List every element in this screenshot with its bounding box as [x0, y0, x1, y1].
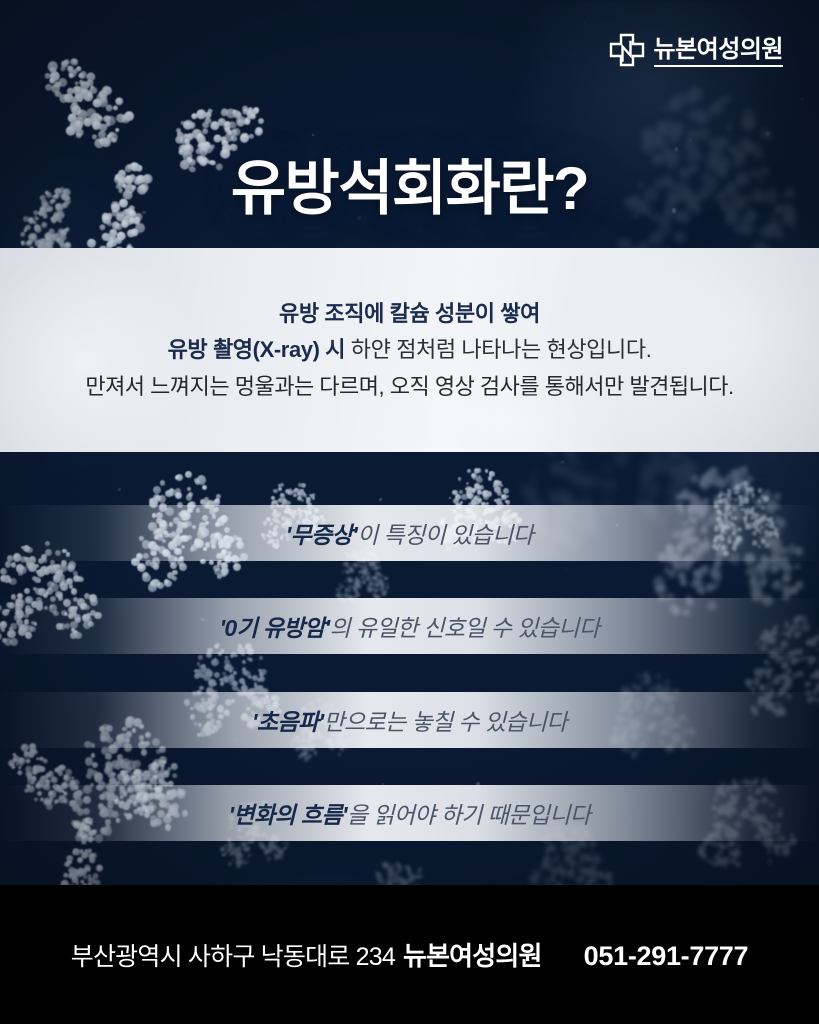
list-item-label: '변화의 흐름'을 읽어야 하기 때문입니다: [229, 796, 591, 830]
list-item-highlight: '변화의 흐름': [229, 802, 347, 828]
footer-bar: 부산광역시 사하구 낙동대로 234 뉴본여성의원 051-291-7777: [0, 885, 819, 1024]
description-line-3: 만져서 느껴지는 멍울과는 다르며, 오직 영상 검사를 통해서만 발견됩니다.: [85, 373, 733, 401]
page-title: 유방석회화란?: [0, 140, 819, 227]
footer-clinic-name: 뉴본여성의원: [403, 936, 542, 973]
description-line-2-bold: 유방 촬영(X-ray) 시: [168, 337, 346, 362]
footer-phone[interactable]: 051-291-7777: [584, 941, 749, 972]
footer-address: 부산광역시 사하구 낙동대로 234: [71, 937, 395, 973]
list-item-highlight: '무증상': [286, 522, 357, 548]
description-line-2: 유방 촬영(X-ray) 시 하얀 점처럼 나타나는 현상입니다.: [168, 336, 652, 364]
list-item-highlight: '초음파': [252, 709, 323, 735]
description-band: 유방 조직에 칼슘 성분이 쌓여 유방 촬영(X-ray) 시 하얀 점처럼 나…: [0, 248, 819, 452]
clinic-logo[interactable]: 뉴본여성의원: [609, 33, 783, 72]
list-item[interactable]: '초음파'만으로는 놓칠 수 있습니다: [0, 692, 819, 748]
description-line-1: 유방 조직에 칼슘 성분이 쌓여: [279, 300, 540, 328]
poster-root: 뉴본여성의원 유방석회화란? 유방 조직에 칼슘 성분이 쌓여 유방 촬영(X-…: [0, 0, 819, 1024]
list-item-label: '초음파'만으로는 놓칠 수 있습니다: [252, 703, 567, 737]
list-item-label: '무증상'이 특징이 있습니다: [286, 516, 533, 550]
medical-cross-n-icon: [609, 33, 645, 72]
list-item-rest: 의 유일한 신호일 수 있습니다: [330, 615, 600, 641]
list-item-label: '0기 유방암'의 유일한 신호일 수 있습니다: [220, 609, 600, 643]
list-item-rest: 이 특징이 있습니다: [357, 522, 533, 548]
logo-wordmark: 뉴본여성의원: [654, 38, 783, 67]
list-item-rest: 을 읽어야 하기 때문입니다: [347, 802, 591, 828]
list-item[interactable]: '변화의 흐름'을 읽어야 하기 때문입니다: [0, 785, 819, 841]
list-item[interactable]: '무증상'이 특징이 있습니다: [0, 505, 819, 561]
list-item-rest: 만으로는 놓칠 수 있습니다: [323, 709, 567, 735]
list-item[interactable]: '0기 유방암'의 유일한 신호일 수 있습니다: [0, 598, 819, 654]
list-item-highlight: '0기 유방암': [220, 615, 330, 641]
description-line-2-rest: 하얀 점처럼 나타나는 현상입니다.: [345, 337, 651, 362]
